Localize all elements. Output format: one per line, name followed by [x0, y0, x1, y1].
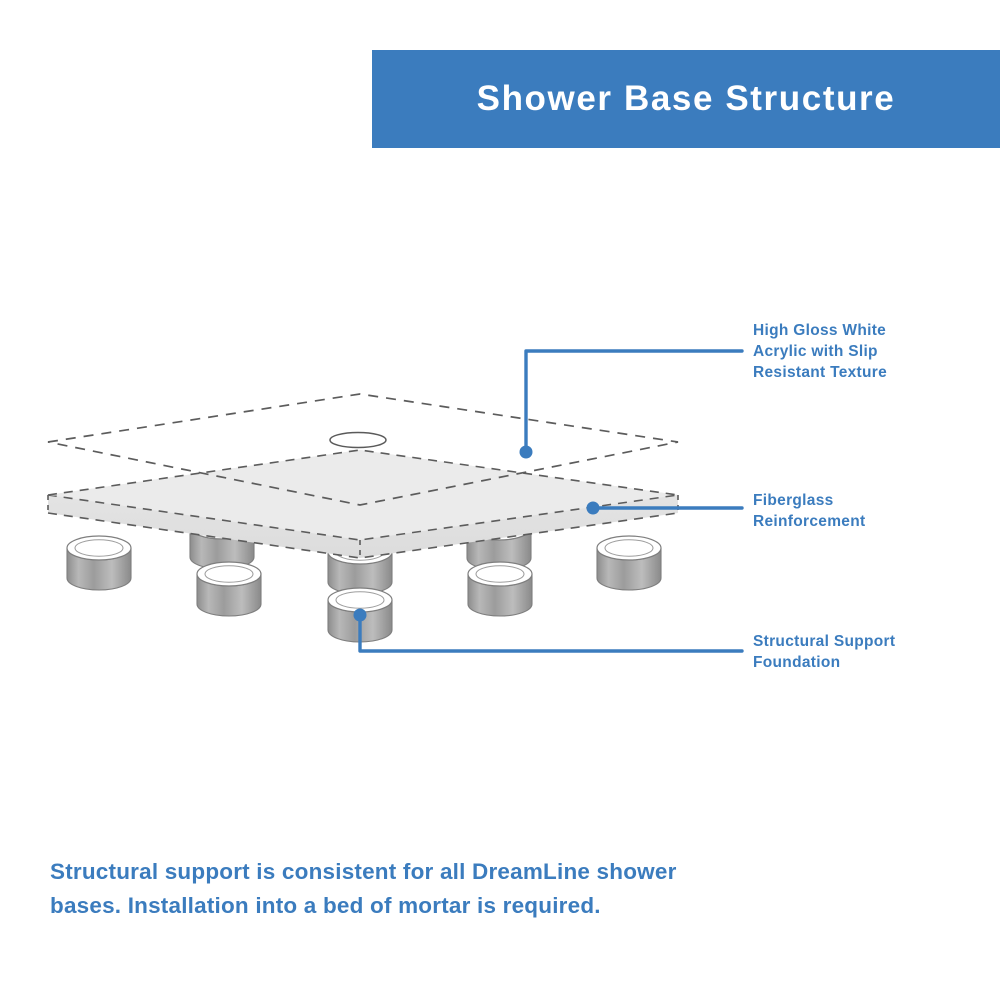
drain-hole-icon	[330, 433, 386, 448]
support-ring	[67, 536, 131, 590]
leader-dot-fiberglass	[587, 502, 600, 515]
leader-dot-acrylic	[520, 446, 533, 459]
support-ring	[197, 562, 261, 616]
leader-line-acrylic	[526, 351, 742, 452]
footer-note: Structural support is consistent for all…	[50, 855, 690, 923]
callout-label-fiberglass: Fiberglass Reinforcement	[753, 490, 988, 532]
callout-label-acrylic: High Gloss White Acrylic with Slip Resis…	[753, 320, 988, 383]
support-ring	[468, 562, 532, 616]
callout-label-support: Structural Support Foundation	[753, 631, 988, 673]
leader-dot-support	[354, 609, 367, 622]
shower-base-infographic: Shower Base Structure	[0, 0, 1000, 1000]
support-ring	[597, 536, 661, 590]
leader-line-support	[360, 615, 742, 651]
